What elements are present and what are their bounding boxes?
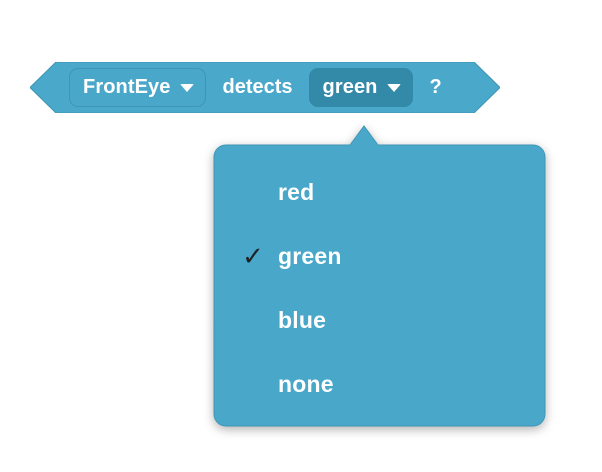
variable-dropdown-field[interactable]: FrontEye — [69, 68, 206, 107]
dropdown-item-green[interactable]: ✓ green — [214, 224, 545, 288]
boolean-block-content: FrontEye detects green ? — [30, 62, 500, 113]
dropdown-item-blue[interactable]: blue — [214, 288, 545, 352]
value-dropdown-field[interactable]: green — [309, 68, 414, 107]
boolean-block[interactable]: FrontEye detects green ? — [30, 62, 500, 113]
dropdown-item-label: red — [278, 181, 314, 204]
dropdown-item-label: none — [278, 373, 334, 396]
canvas: FrontEye detects green ? — [0, 0, 602, 472]
value-field-label: green — [323, 77, 378, 97]
question-mark-label: ? — [429, 77, 441, 97]
dropdown-item-none[interactable]: none — [214, 352, 545, 416]
dropdown-menu[interactable]: red ✓ green blue none — [214, 145, 545, 426]
chevron-down-icon — [180, 84, 194, 92]
chevron-down-icon — [387, 84, 401, 92]
dropdown-item-red[interactable]: red — [214, 160, 545, 224]
operator-label: detects — [222, 77, 292, 97]
check-icon: ✓ — [240, 243, 266, 269]
dropdown-item-label: blue — [278, 309, 326, 332]
variable-field-label: FrontEye — [83, 77, 170, 97]
dropdown-item-list: red ✓ green blue none — [214, 145, 545, 426]
dropdown-item-label: green — [278, 245, 342, 268]
